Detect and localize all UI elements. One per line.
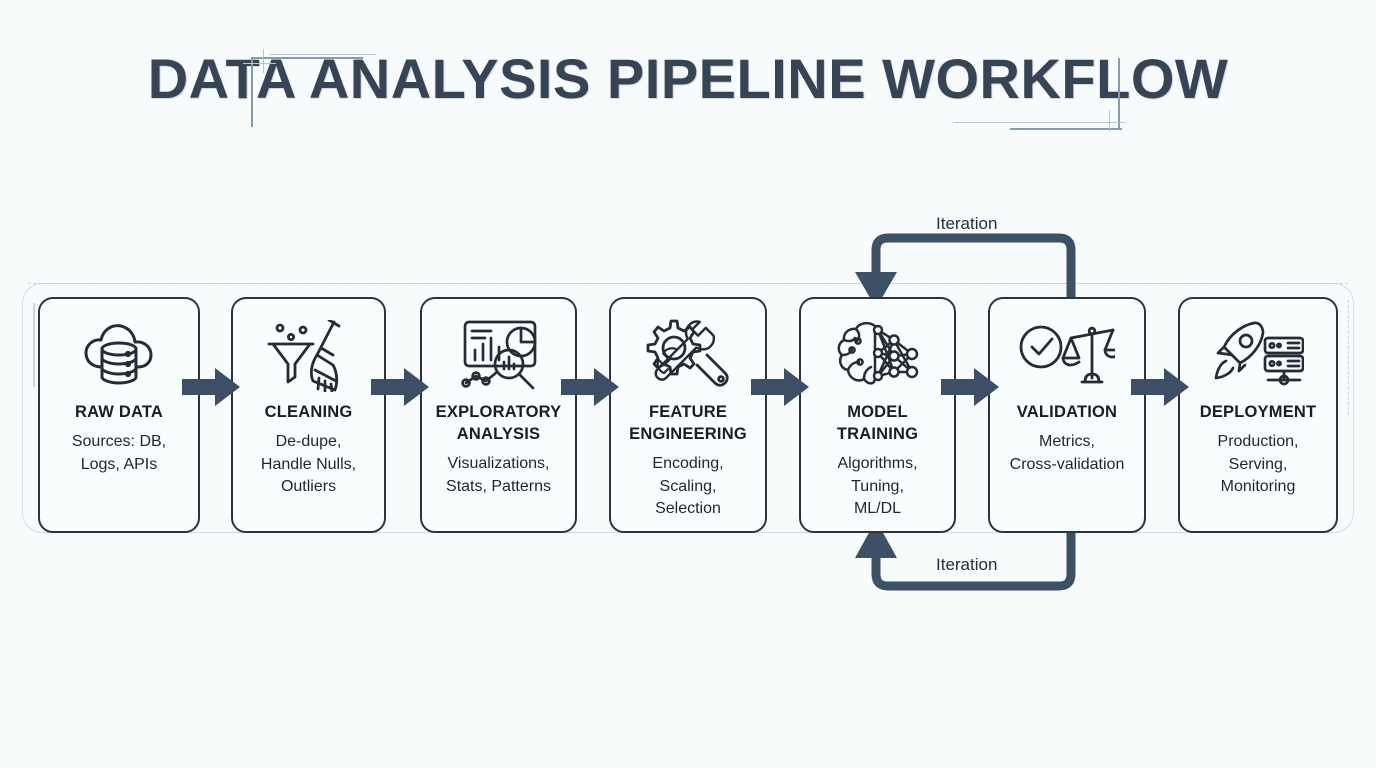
title-deco-left-small — [243, 63, 276, 64]
card-title: FEATUREENGINEERING — [629, 401, 747, 445]
brain-neural-network-icon — [834, 313, 922, 399]
arrow-validation-to-deployment — [1131, 366, 1191, 408]
title-deco-right-vline — [1118, 58, 1120, 130]
check-scales-icon — [1019, 313, 1115, 399]
title-deco-bottom-hline — [1010, 128, 1122, 130]
card-description: Metrics,Cross-validation — [1002, 431, 1133, 476]
rocket-server-icon — [1212, 313, 1304, 399]
decorative-bar-left — [33, 303, 35, 387]
arrow-cleaning-to-eda — [371, 366, 431, 408]
title-deco-bottom-hline2 — [953, 122, 1125, 123]
card-title: DEPLOYMENT — [1200, 401, 1317, 423]
card-description: De-dupe,Handle Nulls,Outliers — [253, 431, 364, 499]
funnel-broom-icon — [267, 313, 351, 399]
step-card-raw-data[interactable]: RAW DATA Sources: DB,Logs, APIs — [38, 297, 200, 533]
diagram-canvas: DATA ANALYSIS PIPELINE WORKFLOW Iteratio… — [0, 0, 1376, 768]
title-deco-top-hline — [251, 57, 363, 59]
cloud-database-icon — [80, 313, 158, 399]
step-card-deployment[interactable]: DEPLOYMENT Production,Serving,Monitoring — [1178, 297, 1338, 533]
card-title: CLEANING — [265, 401, 353, 423]
card-description: Production,Serving,Monitoring — [1210, 431, 1307, 499]
title-deco-top-hline2 — [270, 54, 376, 55]
card-title: RAW DATA — [75, 401, 163, 423]
step-card-validation[interactable]: VALIDATION Metrics,Cross-validation — [988, 297, 1146, 533]
card-title: MODELTRAINING — [837, 401, 918, 445]
title-deco-right-small — [1109, 110, 1110, 132]
decorative-tick-right — [1348, 300, 1349, 415]
gear-wrench-screwdriver-icon — [645, 313, 731, 399]
arrow-raw-to-cleaning — [182, 366, 242, 408]
dashboard-magnifier-icon — [453, 313, 545, 399]
title-block: DATA ANALYSIS PIPELINE WORKFLOW — [0, 46, 1376, 111]
step-card-model-training[interactable]: MODELTRAINING Algorithms,Tuning,ML/DL — [799, 297, 956, 533]
page-title: DATA ANALYSIS PIPELINE WORKFLOW — [148, 46, 1229, 111]
step-card-cleaning[interactable]: CLEANING De-dupe,Handle Nulls,Outliers — [231, 297, 386, 533]
step-card-exploratory-analysis[interactable]: EXPLORATORYANALYSIS Visualizations,Stats… — [420, 297, 577, 533]
card-title: VALIDATION — [1017, 401, 1117, 423]
step-card-feature-engineering[interactable]: FEATUREENGINEERING Encoding,Scaling,Sele… — [609, 297, 767, 533]
card-description: Visualizations,Stats, Patterns — [438, 453, 559, 498]
card-title: EXPLORATORYANALYSIS — [436, 401, 562, 445]
iteration-top-label: Iteration — [936, 214, 997, 234]
card-description: Encoding,Scaling,Selection — [644, 453, 731, 521]
card-description: Algorithms,Tuning,ML/DL — [829, 453, 925, 521]
title-deco-left-vline — [251, 57, 253, 127]
title-deco-left-small2 — [263, 49, 264, 73]
arrow-eda-to-feature — [561, 366, 621, 408]
card-description: Sources: DB,Logs, APIs — [64, 431, 174, 476]
decorative-dashed-line — [28, 283, 1348, 284]
arrow-feature-to-model — [751, 366, 811, 408]
arrow-model-to-validation — [941, 366, 1001, 408]
iteration-bottom-label: Iteration — [936, 555, 997, 575]
